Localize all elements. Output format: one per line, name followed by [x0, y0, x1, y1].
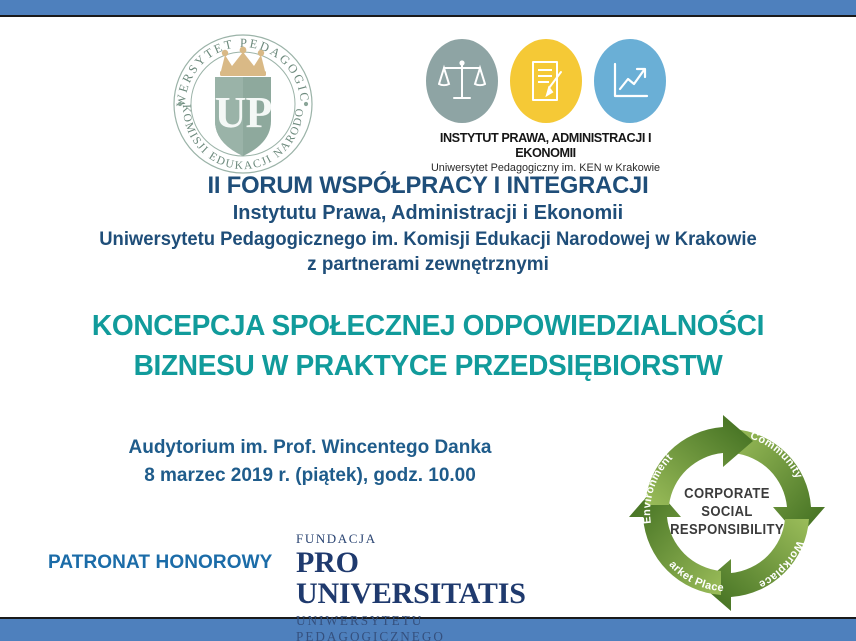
csr-arrow-workplace [701, 519, 809, 611]
pro-universitatis-name: PRO UNIVERSITATIS [296, 548, 571, 609]
venue-datetime: 8 marzec 2019 r. (piątek), godz. 10.00 [0, 462, 620, 490]
ipae-logo-title: INSTYTUT PRAWA, ADMINISTRACJI I EKONOMII [430, 130, 661, 160]
pro-universitatis-fundacja: FUNDACJA [296, 531, 571, 547]
csr-arrows-icon: Environment Community Workplace Market P… [629, 415, 825, 611]
growth-chart-icon [594, 39, 666, 123]
event-title-line-3: Uniwersytetu Pedagogicznego im. Komisji … [13, 227, 843, 252]
venue-details: Audytorium im. Prof. Wincentego Danka 8 … [0, 434, 620, 489]
up-seal-icon: UNIWERSYTET PEDAGOGICZNY im. KOMISJI EDU… [163, 25, 323, 180]
scales-of-justice-icon [426, 39, 498, 123]
pro-universitatis-sub1: UNIWERSYTETU PEDAGOGICZNEGO [296, 613, 571, 641]
headline-line-1: KONCEPCJA SPOŁECZNEJ ODPOWIEDZIALNOŚCI [6, 306, 849, 346]
document-pen-icon [510, 39, 582, 123]
top-decorative-band [0, 0, 856, 17]
svg-text:UP: UP [215, 88, 272, 137]
event-headline: KONCEPCJA SPOŁECZNEJ ODPOWIEDZIALNOŚCI B… [6, 306, 849, 387]
event-title-line-4: z partnerami zewnętrznymi [13, 252, 843, 277]
event-title-block: II FORUM WSPÓŁPRACY I INTEGRACJI Instytu… [0, 172, 856, 277]
patronat-honorowy-label: PATRONAT HONOROWY [48, 552, 272, 574]
event-title-line-1: II FORUM WSPÓŁPRACY I INTEGRACJI [13, 172, 843, 200]
pro-universitatis-logo: FUNDACJA PRO UNIVERSITATIS UNIWERSYTETU … [296, 531, 571, 641]
ipae-institute-logo: INSTYTUT PRAWA, ADMINISTRACJI I EKONOMII… [425, 34, 666, 165]
venue-place: Audytorium im. Prof. Wincentego Danka [0, 434, 620, 462]
event-title-line-2: Instytutu Prawa, Administracji i Ekonomi… [13, 200, 843, 227]
poster-canvas: UNIWERSYTET PEDAGOGICZNY im. KOMISJI EDU… [0, 0, 856, 641]
headline-line-2: BIZNESU W PRAKTYCE PRZEDSIĘBIORSTW [6, 346, 849, 386]
ipae-icon-circles [425, 34, 666, 123]
csr-cycle-diagram: Environment Community Workplace Market P… [629, 415, 825, 611]
university-seal-logo: UNIWERSYTET PEDAGOGICZNY im. KOMISJI EDU… [163, 25, 323, 180]
logo-row: UNIWERSYTET PEDAGOGICZNY im. KOMISJI EDU… [0, 22, 856, 170]
